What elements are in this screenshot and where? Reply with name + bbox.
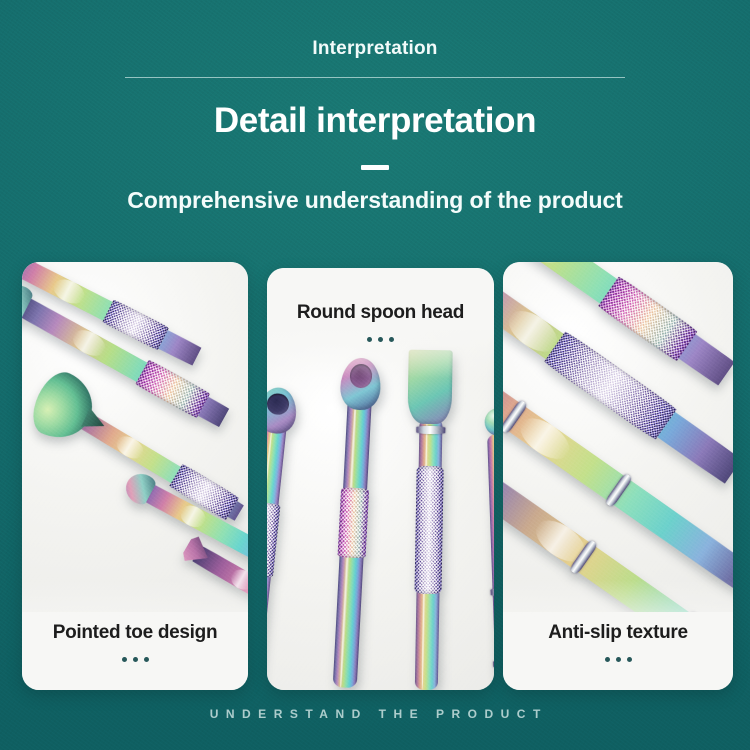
dot bbox=[616, 657, 621, 662]
page-subtitle: Comprehensive understanding of the produ… bbox=[0, 187, 750, 214]
card-caption-pointed-toe: Pointed toe design bbox=[22, 622, 248, 662]
caption-dots bbox=[503, 657, 733, 662]
tool-round-spoon-head bbox=[307, 336, 399, 689]
card-caption-anti-slip: Anti-slip texture bbox=[503, 622, 733, 662]
header: Interpretation Detail interpretation Com… bbox=[0, 0, 750, 214]
caption-text: Round spoon head bbox=[267, 302, 494, 324]
dot bbox=[605, 657, 610, 662]
tool-flat-spatula bbox=[387, 333, 469, 690]
caption-dots bbox=[267, 337, 494, 342]
caption-text: Pointed toe design bbox=[22, 622, 248, 644]
product-photo-round-spoon bbox=[267, 330, 494, 690]
dot bbox=[378, 337, 383, 342]
card-caption-round-spoon: Round spoon head bbox=[267, 302, 494, 342]
caption-text: Anti-slip texture bbox=[503, 622, 733, 644]
poster-root: Interpretation Detail interpretation Com… bbox=[0, 0, 750, 750]
feature-card-pointed-toe[interactable]: Pointed toe design bbox=[22, 262, 248, 690]
dot bbox=[122, 657, 127, 662]
dot bbox=[389, 337, 394, 342]
feature-card-round-spoon[interactable]: Round spoon head bbox=[267, 268, 494, 690]
header-divider bbox=[125, 77, 625, 78]
dot bbox=[367, 337, 372, 342]
page-title: Detail interpretation bbox=[0, 101, 750, 141]
product-photo-pointed-toe bbox=[22, 262, 248, 612]
dot bbox=[133, 657, 138, 662]
dot bbox=[627, 657, 632, 662]
footer-tagline: UNDERSTAND THE PRODUCT bbox=[0, 707, 750, 721]
feature-card-group: Pointed toe design bbox=[22, 262, 733, 690]
product-photo-anti-slip bbox=[503, 262, 733, 612]
caption-dots bbox=[22, 657, 248, 662]
tool-ball-end bbox=[461, 373, 494, 690]
eyebrow-label: Interpretation bbox=[0, 38, 750, 60]
dot bbox=[144, 657, 149, 662]
title-dash-separator bbox=[361, 165, 389, 170]
feature-card-anti-slip[interactable]: Anti-slip texture bbox=[503, 262, 733, 690]
